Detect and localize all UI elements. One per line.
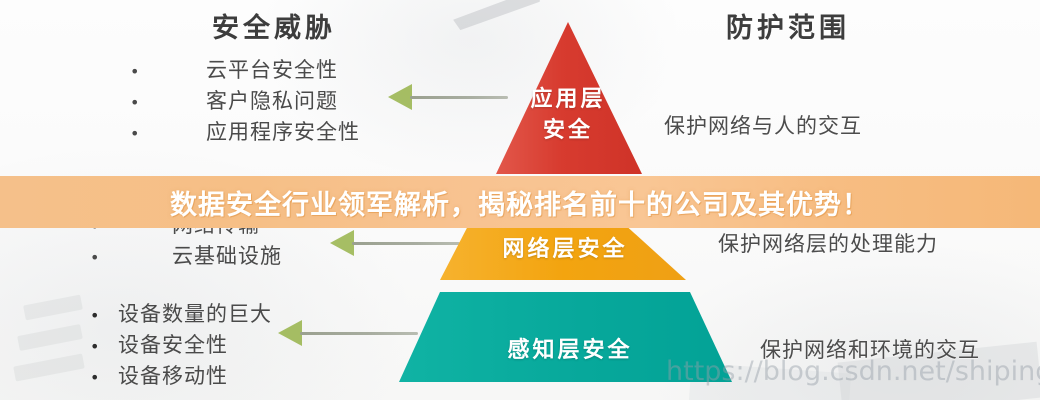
pyramid-label-perception: 感知层安全 xyxy=(470,335,670,366)
scope-text-network: 保护网络层的处理能力 xyxy=(718,228,938,258)
infographic-canvas: 安全威胁 防护范围 • 云平台安全性 • 客户隐私问题 • 应用程序安全性 • … xyxy=(0,0,1040,400)
pyramid-label-application: 应用层 安全 xyxy=(508,84,628,146)
pyramid-label-network: 网络层安全 xyxy=(470,234,660,265)
scope-text-application: 保护网络与人的交互 xyxy=(664,110,862,140)
watermark-url: https://blog.csdn.net/shipinginfo xyxy=(666,356,1040,387)
promo-banner: 数据安全行业领军解析，揭秘排名前十的公司及其优势！ xyxy=(0,176,1040,228)
promo-banner-text: 数据安全行业领军解析，揭秘排名前十的公司及其优势！ xyxy=(170,183,870,222)
